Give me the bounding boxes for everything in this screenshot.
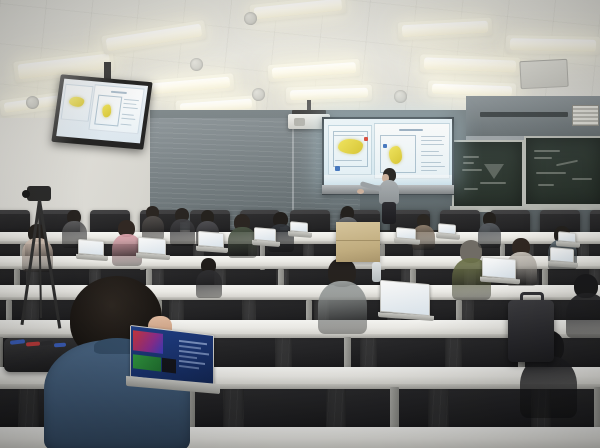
student-grey-hoodie [318,258,367,334]
chair-highlight [440,210,480,214]
laptop-mid-row-base[interactable] [252,240,280,247]
laptop-pink-row[interactable] [136,238,170,260]
laptop-foreground[interactable] [126,330,222,392]
laptop-back-row-1-screen [397,228,415,239]
student-silhouette-right [566,274,600,338]
lecture-hall-photo [0,0,600,448]
laptop-back-row-4[interactable] [288,222,312,238]
chair-highlight [540,210,580,214]
laptop-back-row-1-base[interactable] [394,238,420,245]
laptop-grey-hoodie[interactable] [378,282,434,320]
laptop-back-row-4-base[interactable] [288,231,312,238]
presenter-hand [357,189,364,194]
student-row-back-6-torso [478,223,501,248]
laptop-olive-lid [482,257,516,280]
student-row-back-2-torso [170,219,195,246]
pen-blue-1 [10,339,25,345]
laptop-ponytail[interactable] [548,248,578,268]
laptop-pink-row-base[interactable] [136,253,170,260]
student-head-bottom-torso [196,270,222,298]
student-row-back-6 [478,212,501,248]
screen-red-block [133,330,163,354]
student-silhouette-br-torso [520,356,577,418]
ceiling-speaker-1 [244,12,257,25]
student-silhouette-right-torso [566,293,600,338]
rolling-suitcase [508,300,554,362]
presenter-legs [382,202,396,224]
soffit-slot [480,112,568,117]
laptop-mid-row[interactable] [252,228,280,247]
camera-lens [22,190,30,198]
laptop-back-row-3-screen [559,232,575,241]
student-row-back-2 [170,208,195,246]
presenter [372,168,406,224]
chair-highlight [590,210,600,214]
laptop-olive-screen [483,258,515,279]
screen-green-block [133,354,161,371]
presenter-torso [379,180,399,204]
student-row-back-7 [142,206,164,240]
student-row-back-7-torso [142,216,164,240]
laptop-ponytail-base[interactable] [548,261,578,268]
student-head-bottom [196,258,222,298]
tv-screen-glare [51,74,152,149]
ceiling-speaker-5 [394,90,407,103]
laptop-plaid-row-screen [199,232,223,247]
laptop-back-row-2-screen [439,224,455,233]
laptop-mid-row-screen [255,228,275,241]
cardboard-box-seam [336,240,380,241]
screen-dark-block [162,358,176,374]
laptop-plaid-row-base[interactable] [196,246,228,253]
laptop-ponytail-screen [551,248,573,262]
laptop-back-row-2-base[interactable] [436,233,460,240]
ceiling-speaker-3 [252,88,265,101]
ceiling-speaker-2 [190,58,203,71]
tv-monitor [51,74,152,149]
screen-code-lines [179,337,213,383]
cardboard-box [336,222,380,262]
laptop-back-row-4-screen [291,222,307,231]
laptop-grey-hoodie-screen [381,281,429,315]
chair-highlight [290,210,330,214]
desk-leg [594,387,600,431]
wall-vent [572,105,599,126]
laptop-back-row-3-base[interactable] [556,241,580,248]
laptop-pink-row-screen [139,238,165,254]
laptop-back-row-1[interactable] [394,228,420,245]
laptop-back-row-3[interactable] [556,232,580,248]
projector-lens [294,118,305,126]
student-grey-hoodie-torso [318,281,367,334]
ceiling-speaker-4 [26,96,39,109]
video-camera [27,186,51,201]
laptop-plaid-row[interactable] [196,232,228,253]
laptop-grey-hoodie-lid [380,280,430,316]
desk-leg [390,387,399,431]
laptop-back-row-2[interactable] [436,224,460,240]
slide-pane-left [328,125,372,175]
chair-highlight [90,210,130,214]
laptop-olive[interactable] [480,258,520,284]
water-bottle [372,262,381,282]
